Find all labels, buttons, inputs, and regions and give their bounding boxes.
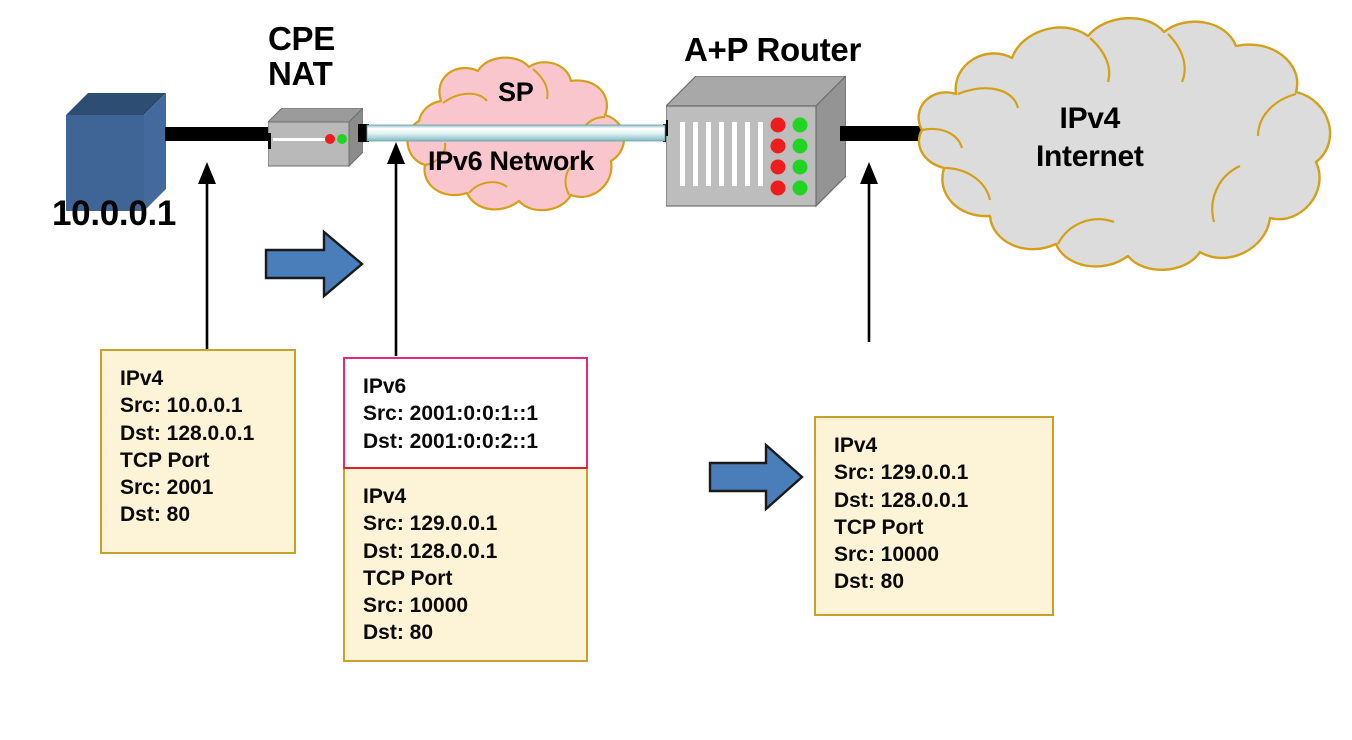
packet-box-1: IPv4 Src: 10.0.0.1 Dst: 128.0.0.1 TCP Po…: [100, 349, 296, 554]
packet-line: Src: 2001: [120, 474, 294, 501]
flow-arrow-encapsulate: [262, 228, 366, 300]
packet-line: Dst: 128.0.0.1: [363, 538, 586, 565]
packet-line: Src: 10000: [834, 541, 1052, 568]
network-diagram-canvas: 10.0.0.1 CPE NAT SP IPv6 Network: [0, 0, 1352, 740]
packet-line: IPv4: [834, 432, 1052, 459]
packet-box-2-ipv6-section: IPv6 Src: 2001:0:0:1::1 Dst: 2001:0:0:2:…: [343, 357, 588, 469]
packet-line: Dst: 128.0.0.1: [834, 487, 1052, 514]
ap-router-label: A+P Router: [684, 33, 861, 68]
packet-line: IPv4: [120, 365, 294, 392]
pointer-arrow-packet3: [852, 160, 886, 342]
packet-line: IPv4: [363, 483, 586, 510]
packet-line: TCP Port: [834, 514, 1052, 541]
packet-line: Src: 10.0.0.1: [120, 392, 294, 419]
packet-line: Dst: 128.0.0.1: [120, 420, 294, 447]
packet-line: IPv6: [363, 373, 586, 400]
packet-line: Dst: 80: [120, 501, 294, 528]
pointer-arrow-packet2: [379, 140, 413, 356]
packet-box-3: IPv4 Src: 129.0.0.1 Dst: 128.0.0.1 TCP P…: [814, 416, 1054, 616]
pointer-arrow-packet1: [190, 160, 224, 356]
packet-line: Src: 10000: [363, 592, 586, 619]
packet-line: Dst: 2001:0:0:2::1: [363, 428, 586, 455]
packet-box-2-ipv4-section: IPv4 Src: 129.0.0.1 Dst: 128.0.0.1 TCP P…: [343, 467, 588, 662]
ap-router-device: [666, 76, 846, 212]
cable-host-to-cpe: [165, 127, 280, 141]
cpe-led-green: [337, 134, 347, 144]
packet-line: Src: 129.0.0.1: [363, 510, 586, 537]
flow-arrow-decapsulate: [706, 442, 806, 512]
cpe-led-red: [325, 134, 335, 144]
packet-line: TCP Port: [363, 565, 586, 592]
packet-line: Src: 129.0.0.1: [834, 459, 1052, 486]
cpe-nat-label: CPE NAT: [268, 22, 335, 91]
ipv4-internet-label: IPv4 Internet: [1036, 100, 1144, 175]
cpe-nat-device: [268, 108, 363, 168]
ipv6-network-label: IPv6 Network: [428, 147, 594, 175]
packet-line: Dst: 80: [363, 619, 586, 646]
packet-line: Src: 2001:0:0:1::1: [363, 400, 586, 427]
sp-label: SP: [498, 78, 533, 106]
packet-line: TCP Port: [120, 447, 294, 474]
packet-line: Dst: 80: [834, 568, 1052, 595]
host-ip-label: 10.0.0.1: [52, 196, 176, 233]
packet-box-2: IPv4 Src: 129.0.0.1 Dst: 128.0.0.1 TCP P…: [343, 357, 588, 662]
